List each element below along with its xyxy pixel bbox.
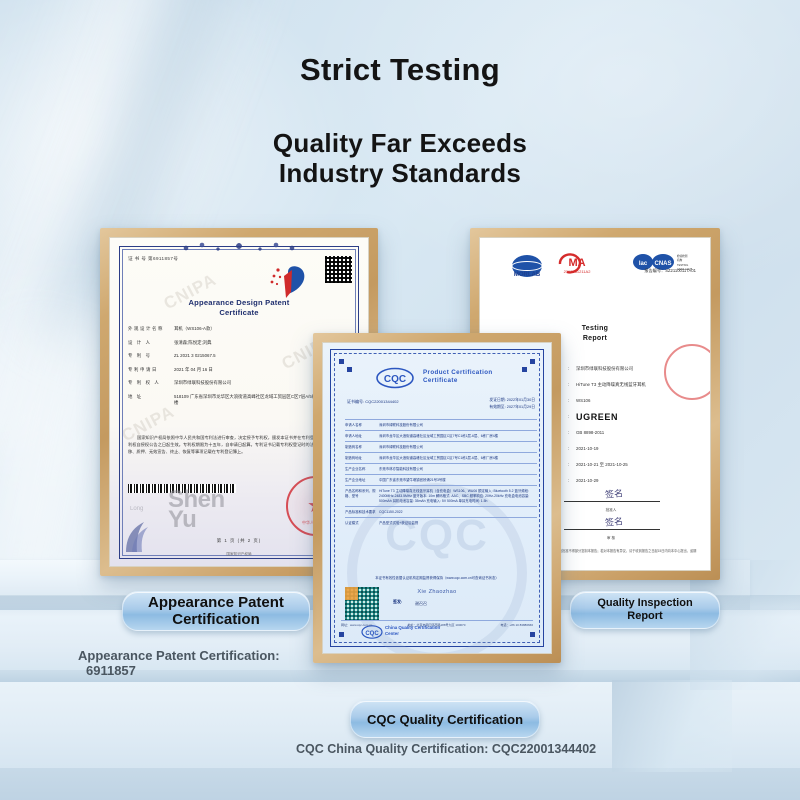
- svg-text:机构: 机构: [677, 258, 683, 262]
- morlab-logo-icon: MORLAB: [504, 254, 550, 280]
- cqc-center-logo-icon: CQC: [361, 625, 383, 639]
- ornamental-corner-decoration: [124, 514, 158, 554]
- report-field-colon: :: [568, 446, 576, 452]
- cqc-issue-date: 发证日期: 2022年01月30日: [489, 397, 535, 404]
- cqc-field-value: 东莞市林亦智能科技有限公司: [379, 467, 537, 472]
- report-field-row: :UGREEN: [542, 414, 700, 420]
- quality-inspection-report-badge[interactable]: Quality Inspection Report: [570, 591, 720, 629]
- page-subtitle-line2: Industry Standards: [0, 158, 800, 188]
- cqc-footer-address: 地址：北京市南四环西路188号九区 100070: [408, 623, 466, 627]
- report-field-colon: :: [568, 366, 576, 372]
- cqc-signature-cn: 谢召召: [415, 601, 427, 607]
- signature-line: [564, 529, 660, 530]
- ornamental-header-decoration: [174, 241, 304, 255]
- cqc-field-list: 申请人名称深圳市绿联科技股份有限公司申请人地址深圳市龙华区大浪街道高峰社区龙域工…: [345, 419, 537, 528]
- patent-field-row: 外观设计名称耳机（WS106-A款）: [128, 326, 354, 332]
- patent-cert-number: 证 书 号 第6911857号: [128, 256, 178, 262]
- badge-text: Appearance Patent Certification: [148, 594, 284, 628]
- cqc-field-key: 制造商地址: [345, 456, 379, 461]
- patent-title-line1: Appearance Design Patent: [110, 298, 368, 308]
- signature-line: [564, 501, 660, 502]
- cqc-field-row: 制造商名称深圳市绿联科技股份有限公司: [345, 441, 537, 452]
- report-field-colon: :: [568, 414, 576, 420]
- patent-field-key: 专 利 权 人: [128, 380, 174, 386]
- certificate-paper: CQC CQC Product Certification Certificat…: [322, 342, 552, 654]
- appearance-patent-certification-badge[interactable]: Appearance Patent Certification: [122, 591, 310, 631]
- cqc-field-key: 认证模式: [345, 521, 379, 526]
- cqc-footer: 网址：www.cqc.com.cn 地址：北京市南四环西路188号九区 1000…: [341, 620, 533, 627]
- cqc-field-value: 深圳市绿联科技股份有限公司: [379, 423, 537, 428]
- report-field-colon: :: [568, 398, 576, 404]
- report-number: 报告编号：SZ21100117A01: [644, 268, 696, 274]
- badge-text: Quality Inspection Report: [597, 597, 692, 623]
- page-subtitle-line1: Quality Far Exceeds: [0, 128, 800, 158]
- cqc-field-value: HiTune T3 主动降噪真无线蓝牙耳机（含充电盒）WS106、WU06 额定…: [379, 489, 537, 504]
- certificate-frame: CQC CQC Product Certification Certificat…: [313, 333, 561, 663]
- cqc-field-value: 产品型式试验+获证后监督: [379, 521, 537, 526]
- cqc-validity-note: 本证书有效性依据认证机构定期监督获得保持（www.cqc.com.cn可查询证书…: [323, 575, 551, 580]
- cqc-field-value: 深圳市龙华区大浪街道高峰社区龙域工贸园区C区7号C1栋1层-6层、6栋厂房4楼: [379, 456, 537, 461]
- cma-logo-icon: MA 2017161211A2: [556, 250, 598, 276]
- cqc-field-row: 申请人名称深圳市绿联科技股份有限公司: [345, 419, 537, 430]
- report-field-row: :GB 8898-2011: [542, 430, 700, 436]
- cqc-quality-certificate-image[interactable]: CQC CQC Product Certification Certificat…: [313, 333, 561, 663]
- patent-field-value: 耳机（WS106-A款）: [174, 326, 354, 332]
- report-brand-name: UGREEN: [576, 414, 700, 420]
- cqc-certificate-number: 证书编号: CQC22001344402: [347, 399, 399, 405]
- patent-field-key: 外观设计名称: [128, 326, 174, 332]
- svg-text:CQC: CQC: [384, 374, 406, 385]
- cqc-field-row: 认证模式产品型式试验+获证后监督: [345, 517, 537, 528]
- cqc-center-line2: Center: [385, 631, 440, 637]
- patent-field-key: 地 址: [128, 394, 174, 406]
- cqc-validity-dates: 发证日期: 2022年01月30日 有效期至: 2027年01月29日: [489, 397, 535, 411]
- page-subtitle: Quality Far Exceeds Industry Standards: [0, 128, 800, 188]
- page-title: Strict Testing: [0, 52, 800, 88]
- report-field-row: :2021-10-19: [542, 446, 700, 452]
- cqc-quality-certification-badge[interactable]: CQC Quality Certification: [350, 700, 540, 738]
- svg-text:TESTING: TESTING: [677, 263, 688, 267]
- svg-text:lac: lac: [639, 261, 648, 267]
- cqc-field-key: 产品标准和技术要求: [345, 510, 379, 515]
- cqc-field-key: 申请人地址: [345, 434, 379, 439]
- cqc-field-value: 深圳市龙华区大浪街道高峰社区龙域工贸园区C区7号C1栋1层-6层、6栋厂房4楼: [379, 434, 537, 439]
- cqc-field-value: CQC1150-2022: [379, 510, 537, 515]
- cqc-signature-label: 签发:: [393, 599, 402, 605]
- cqc-field-value: 深圳市绿联科技股份有限公司: [379, 445, 537, 450]
- cqc-logo-icon: CQC: [375, 367, 415, 389]
- cqc-field-key: 生产企业地址: [345, 478, 379, 483]
- cqc-field-row: 生产企业名称东莞市林亦智能科技有限公司: [345, 463, 537, 474]
- cqc-field-row: 申请人地址深圳市龙华区大浪街道高峰社区龙域工贸园区C区7号C1栋1层-6层、6栋…: [345, 430, 537, 441]
- cqc-field-key: 制造商名称: [345, 445, 379, 450]
- handwritten-signature: 签名: [605, 514, 624, 529]
- cqc-corner-square: [530, 632, 535, 637]
- shenyu-watermark: Shen Yu: [168, 490, 225, 530]
- svg-text:检验检测: 检验检测: [677, 254, 688, 258]
- badge-line1: Quality Inspection: [597, 597, 692, 610]
- accreditation-logos: MORLAB MA 2017161211A2 lac CNAS 检验检测机构: [480, 250, 710, 284]
- badge-text: CQC Quality Certification: [367, 712, 523, 727]
- report-red-stamp: [664, 344, 711, 400]
- promo-banner: Strict Testing Quality Far Exceeds Indus…: [0, 0, 800, 800]
- report-field-colon: :: [568, 430, 576, 436]
- cqc-corner-square: [530, 359, 535, 364]
- report-field-colon: :: [568, 462, 576, 468]
- report-field-row: :2021-10-21 至 2021-10-25: [542, 462, 700, 468]
- caption-line2: 6911857: [86, 663, 378, 678]
- patent-field-key: 设 计 人: [128, 340, 174, 346]
- svg-text:MA: MA: [568, 257, 585, 269]
- svg-text:MORLAB: MORLAB: [514, 272, 541, 278]
- patent-field-key: 专 利 号: [128, 353, 174, 359]
- cqc-certification-caption: CQC China Quality Certification: CQC2200…: [296, 742, 716, 756]
- report-field-colon: :: [568, 382, 576, 388]
- cqc-field-row: 产品标准和技术要求CQC1150-2022: [345, 506, 537, 517]
- svg-text:CNAS: CNAS: [654, 261, 671, 267]
- qr-code-marker: [345, 587, 358, 600]
- cqc-footer-website: 网址：www.cqc.com.cn: [341, 623, 372, 627]
- cqc-corner-square: [339, 359, 344, 364]
- patent-field-key: 专利申请日: [128, 367, 174, 373]
- badge-line1: Appearance Patent: [148, 594, 284, 611]
- cqc-footer-phone: 电话：+86 10 83886666: [501, 623, 533, 627]
- cqc-field-row: 产品名称和系列、规格、型号HiTune T3 主动降噪真无线蓝牙耳机（含充电盒）…: [345, 485, 537, 506]
- patent-certificate-title: Appearance Design Patent Certificate: [110, 298, 368, 318]
- report-field-value: GB 8898-2011: [576, 430, 700, 436]
- cqc-corner-square: [339, 632, 344, 637]
- cqc-field-row: 制造商地址深圳市龙华区大浪街道高峰社区龙域工贸园区C区7号C1栋1层-6层、6栋…: [345, 452, 537, 463]
- cqc-field-key: 产品名称和系列、规格、型号: [345, 489, 379, 504]
- badge-line2: Certification: [148, 611, 284, 628]
- report-field-value: 2021-10-21 至 2021-10-25: [576, 462, 700, 468]
- svg-text:2017161211A2: 2017161211A2: [564, 269, 592, 274]
- badge-line2: Report: [597, 610, 692, 623]
- report-field-value: 2021-10-19: [576, 446, 700, 452]
- shenyu-watermark-line2: Yu: [168, 510, 225, 530]
- cqc-field-value: 中国广东省东莞市望牛墩镇官桥涌21号3号楼: [379, 478, 537, 483]
- report-field-value: WS106: [576, 398, 700, 404]
- handwritten-signature: 签名: [605, 486, 624, 501]
- cnipa-emblem-icon: [262, 262, 314, 300]
- podium-base: [0, 760, 800, 800]
- podium-right-riser: [612, 680, 732, 772]
- cqc-header: CQC Product Certification Certificate: [323, 367, 551, 393]
- cqc-certificate-title: Product Certification Certificate: [423, 369, 493, 385]
- cqc-field-row: 生产企业地址中国广东省东莞市望牛墩镇官桥涌21号3号楼: [345, 474, 537, 485]
- cqc-title-line1: Product Certification: [423, 369, 493, 377]
- cqc-field-key: 申请人名称: [345, 423, 379, 428]
- svg-text:CQC: CQC: [365, 631, 379, 637]
- cqc-field-key: 生产企业名称: [345, 467, 379, 472]
- report-field-row: :WS106: [542, 398, 700, 404]
- qr-code: [325, 256, 352, 283]
- patent-small-signature: Long: [130, 506, 143, 512]
- cqc-title-line2: Certificate: [423, 377, 493, 385]
- cqc-expiry-date: 有效期至: 2027年01月29日: [489, 404, 535, 411]
- patent-title-line2: Certificate: [110, 308, 368, 318]
